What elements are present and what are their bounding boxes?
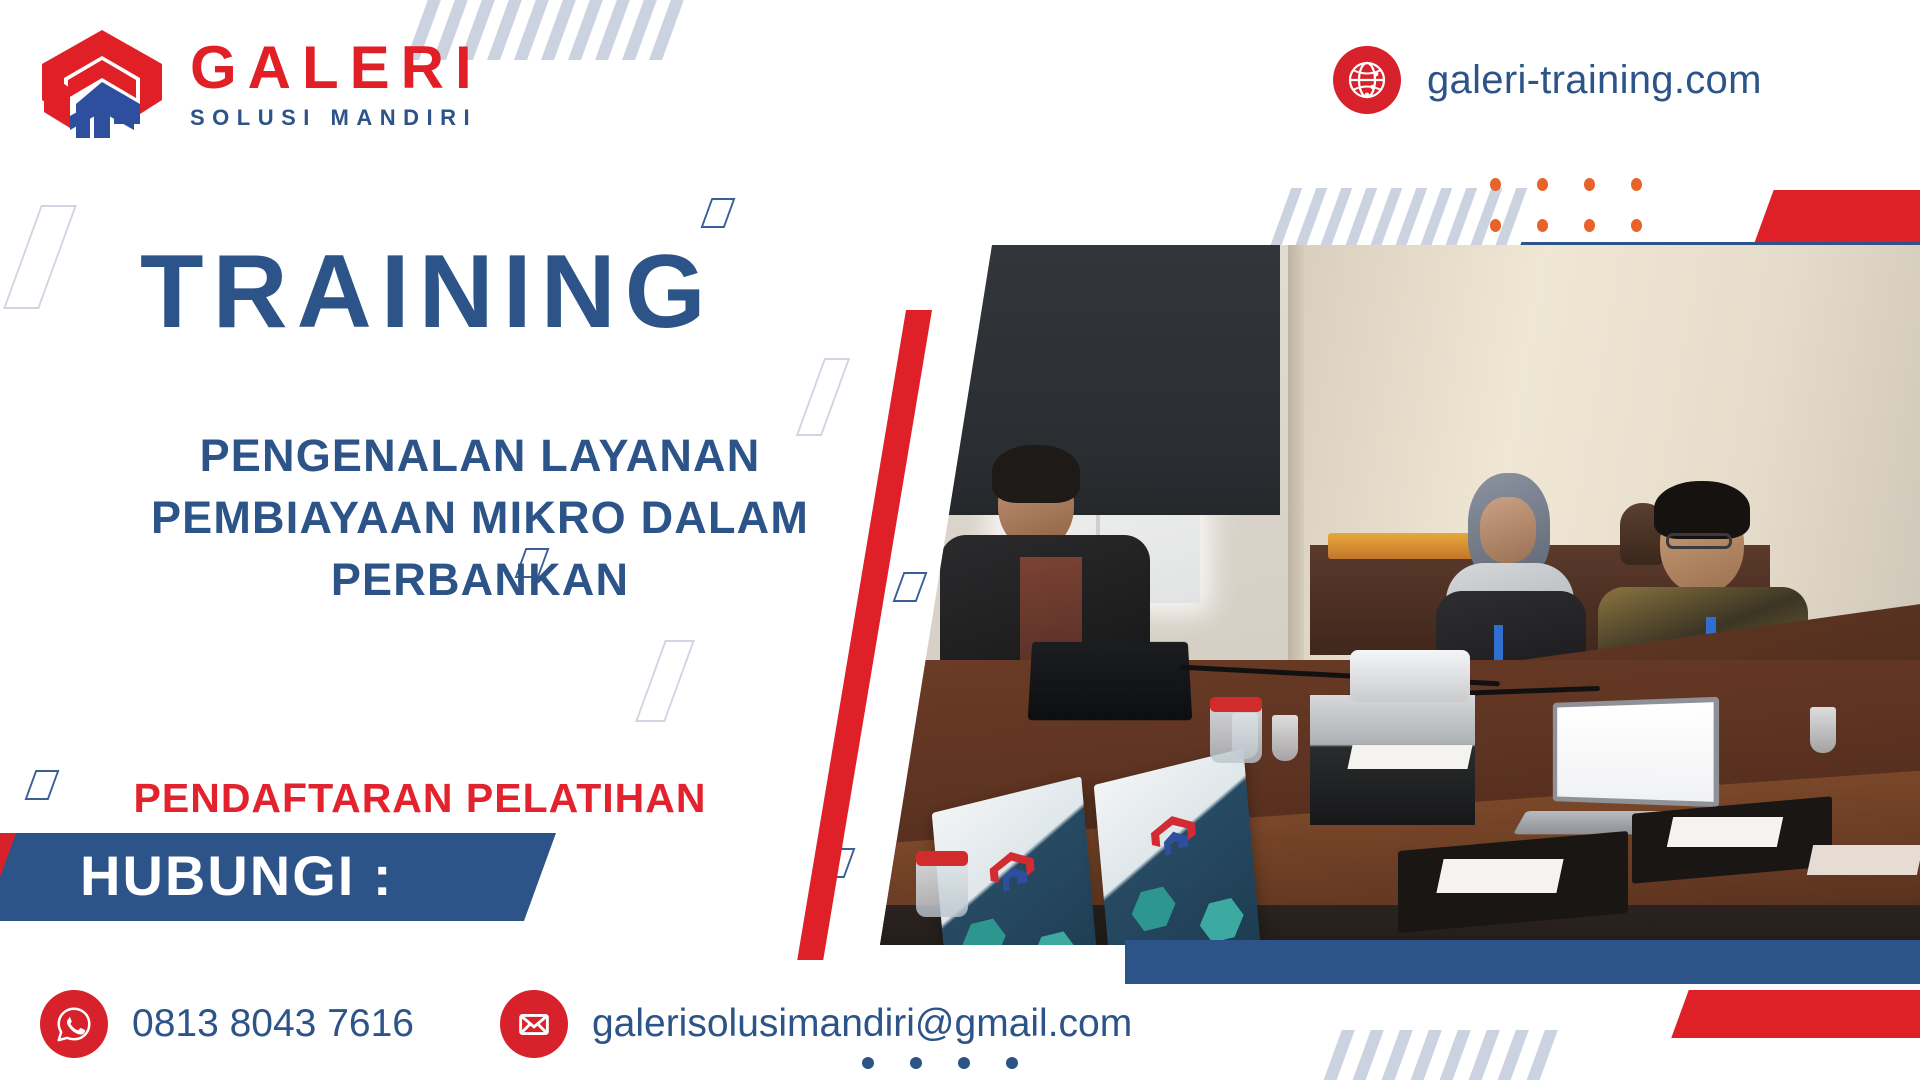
email-icon bbox=[500, 990, 568, 1058]
photo-pitcher-1 bbox=[1210, 697, 1262, 763]
registration-heading: PENDAFTARAN PELATIHAN bbox=[60, 778, 780, 819]
subtitle-line-1: PENGENALAN LAYANAN bbox=[60, 425, 900, 487]
whatsapp-icon bbox=[40, 990, 108, 1058]
training-poster: GALERI SOLUSI MANDIRI galeri-training.co… bbox=[0, 0, 1920, 1080]
decor-parallelogram-outline-1 bbox=[3, 205, 77, 309]
decor-parallelogram-outline-2 bbox=[701, 198, 736, 228]
brand-tagline: SOLUSI MANDIRI bbox=[190, 107, 483, 129]
photo-pitcher-2 bbox=[916, 851, 968, 917]
website-link[interactable]: galeri-training.com bbox=[1333, 46, 1762, 114]
photo-wall-corner bbox=[1288, 245, 1304, 675]
subtitle-line-2: PEMBIAYAAN MIKRO DALAM bbox=[60, 487, 900, 549]
contact-banner-label: HUBUNGI : bbox=[80, 848, 394, 904]
decor-red-shape-bottom-right bbox=[1671, 990, 1920, 1038]
photo-presenter-laptop bbox=[1028, 642, 1193, 720]
subtitle-line-3: PERBANKAN bbox=[60, 549, 900, 611]
decor-parallelogram-outline-6 bbox=[635, 640, 695, 722]
photo-glass-1 bbox=[880, 669, 898, 715]
website-url-text: galeri-training.com bbox=[1427, 58, 1762, 103]
globe-icon bbox=[1333, 46, 1401, 114]
decor-blue-bar-below-photo bbox=[1125, 940, 1920, 984]
diagonal-stripes-bottom-right bbox=[1320, 1030, 1536, 1080]
page-title: TRAINING bbox=[140, 240, 715, 344]
photo-paper-1 bbox=[1436, 859, 1563, 893]
galeri-hexagon-logo-icon bbox=[36, 26, 168, 138]
brand-wordmark: GALERI SOLUSI MANDIRI bbox=[190, 38, 483, 129]
photo-notebook bbox=[1807, 845, 1920, 875]
decor-parallelogram-outline-7 bbox=[25, 770, 60, 800]
photo-projector bbox=[1350, 650, 1470, 702]
brand-name: GALERI bbox=[190, 38, 483, 98]
photo-paper-3 bbox=[1347, 745, 1472, 769]
email-address: galerisolusimandiri@gmail.com bbox=[592, 1002, 1132, 1046]
page-subtitle: PENGENALAN LAYANAN PEMBIAYAAN MIKRO DALA… bbox=[60, 425, 900, 611]
contact-row: 0813 8043 7616 galerisolusimandiri@gmail… bbox=[40, 990, 1132, 1058]
decor-footer-dots bbox=[862, 1057, 1018, 1069]
whatsapp-number: 0813 8043 7616 bbox=[132, 1002, 414, 1046]
photo-folder-right bbox=[1094, 748, 1261, 945]
photo-paper-2 bbox=[1667, 817, 1783, 847]
photo-glass-4 bbox=[1810, 707, 1836, 753]
whatsapp-contact[interactable]: 0813 8043 7616 bbox=[40, 990, 414, 1058]
training-session-photo bbox=[880, 245, 1920, 945]
photo-glass-3 bbox=[1272, 715, 1298, 761]
photo-window-blind bbox=[880, 245, 1280, 515]
email-contact[interactable]: galerisolusimandiri@gmail.com bbox=[500, 990, 1132, 1058]
diagonal-stripes-above-photo bbox=[1280, 188, 1516, 250]
